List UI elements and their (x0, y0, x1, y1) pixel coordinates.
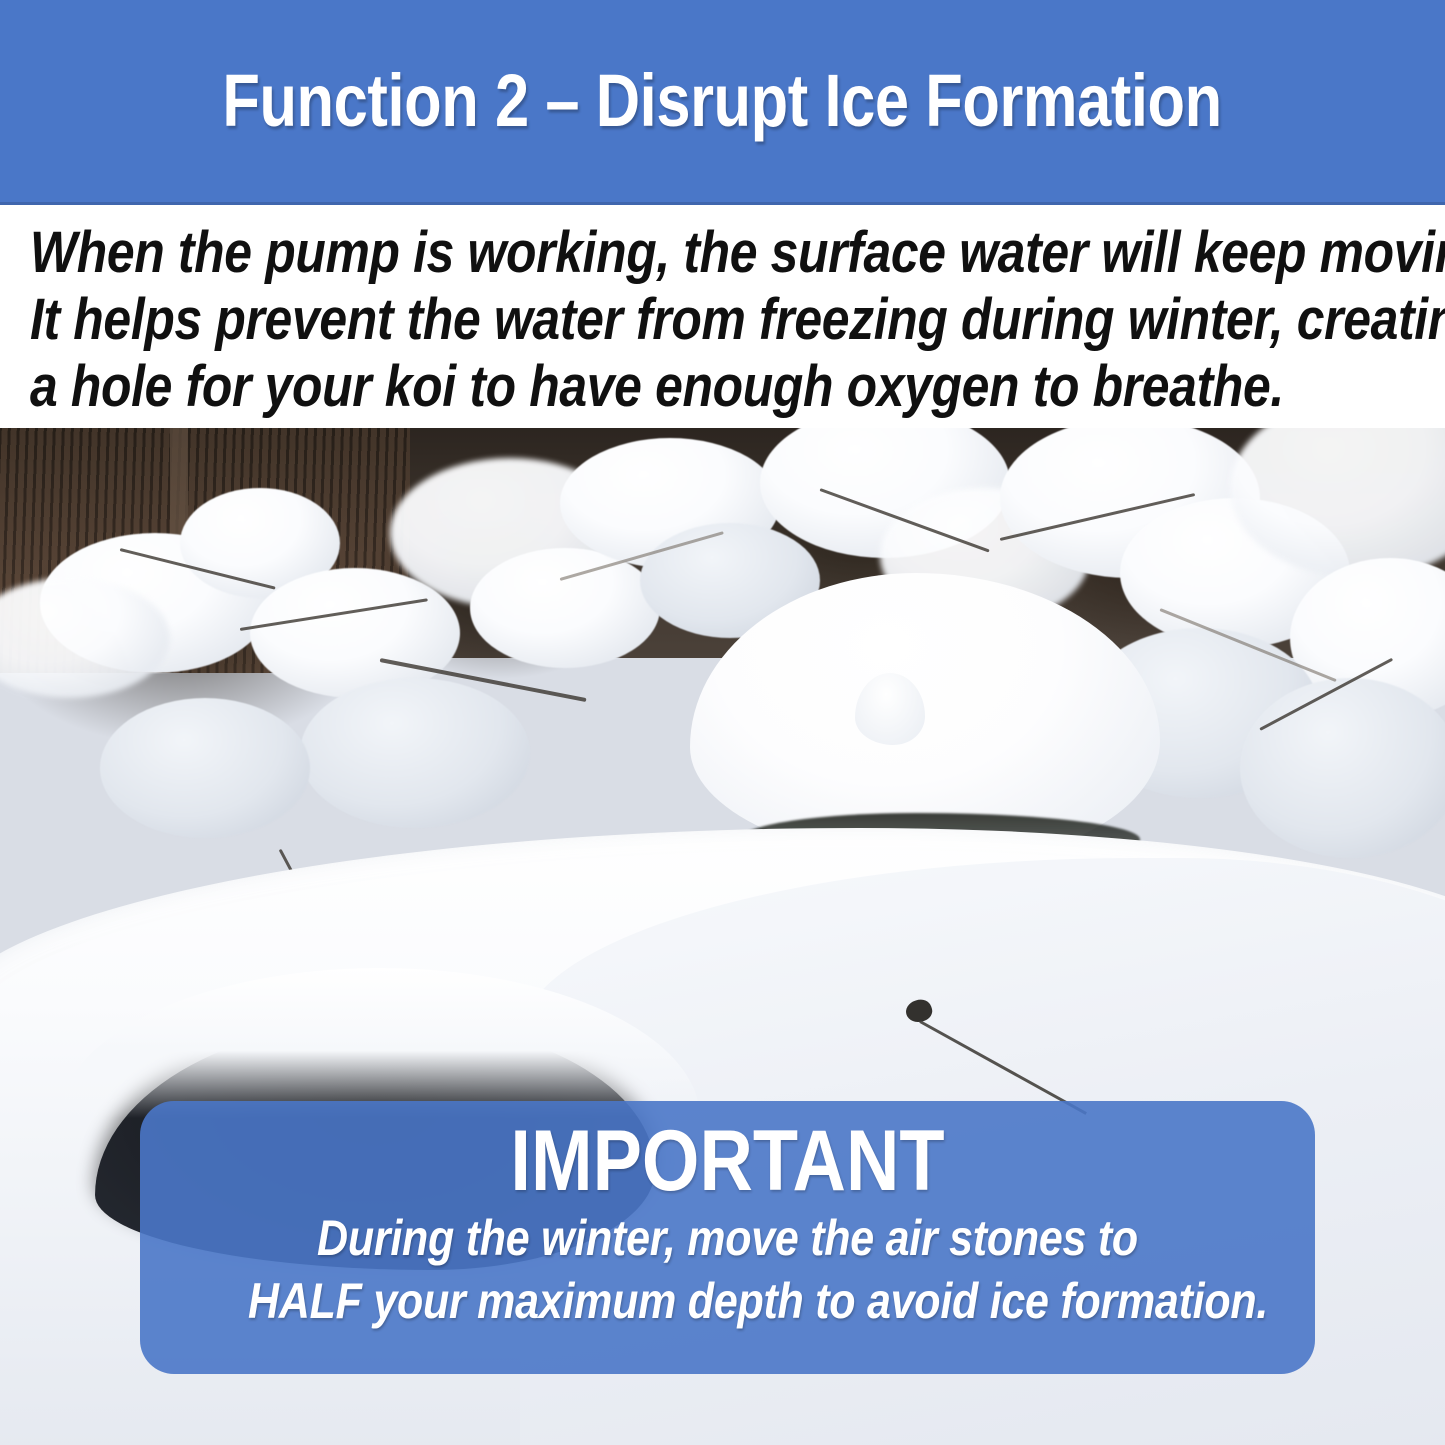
page-title: Function 2 – Disrupt Ice Formation (223, 64, 1222, 138)
snow-shrub-blob (470, 548, 660, 668)
callout-line-2: HALF your maximum depth to avoid ice for… (248, 1270, 1207, 1333)
description-line-2: It helps prevent the water from freezing… (30, 286, 1223, 353)
snow-shrub-blob (1240, 678, 1445, 858)
callout-line-1: During the winter, move the air stones t… (248, 1207, 1207, 1270)
snow-shrub-blob (300, 678, 530, 828)
header-bar: Function 2 – Disrupt Ice Formation (0, 0, 1445, 205)
infographic-card: Function 2 – Disrupt Ice Formation When … (0, 0, 1445, 1445)
important-callout: IMPORTANT During the winter, move the ai… (140, 1101, 1315, 1374)
snow-shrub-blob (100, 698, 310, 838)
description-block: When the pump is working, the surface wa… (0, 205, 1445, 428)
description-line-1: When the pump is working, the surface wa… (30, 219, 1223, 286)
description-line-3: a hole for your koi to have enough oxyge… (30, 353, 1223, 420)
callout-title: IMPORTANT (248, 1115, 1207, 1207)
